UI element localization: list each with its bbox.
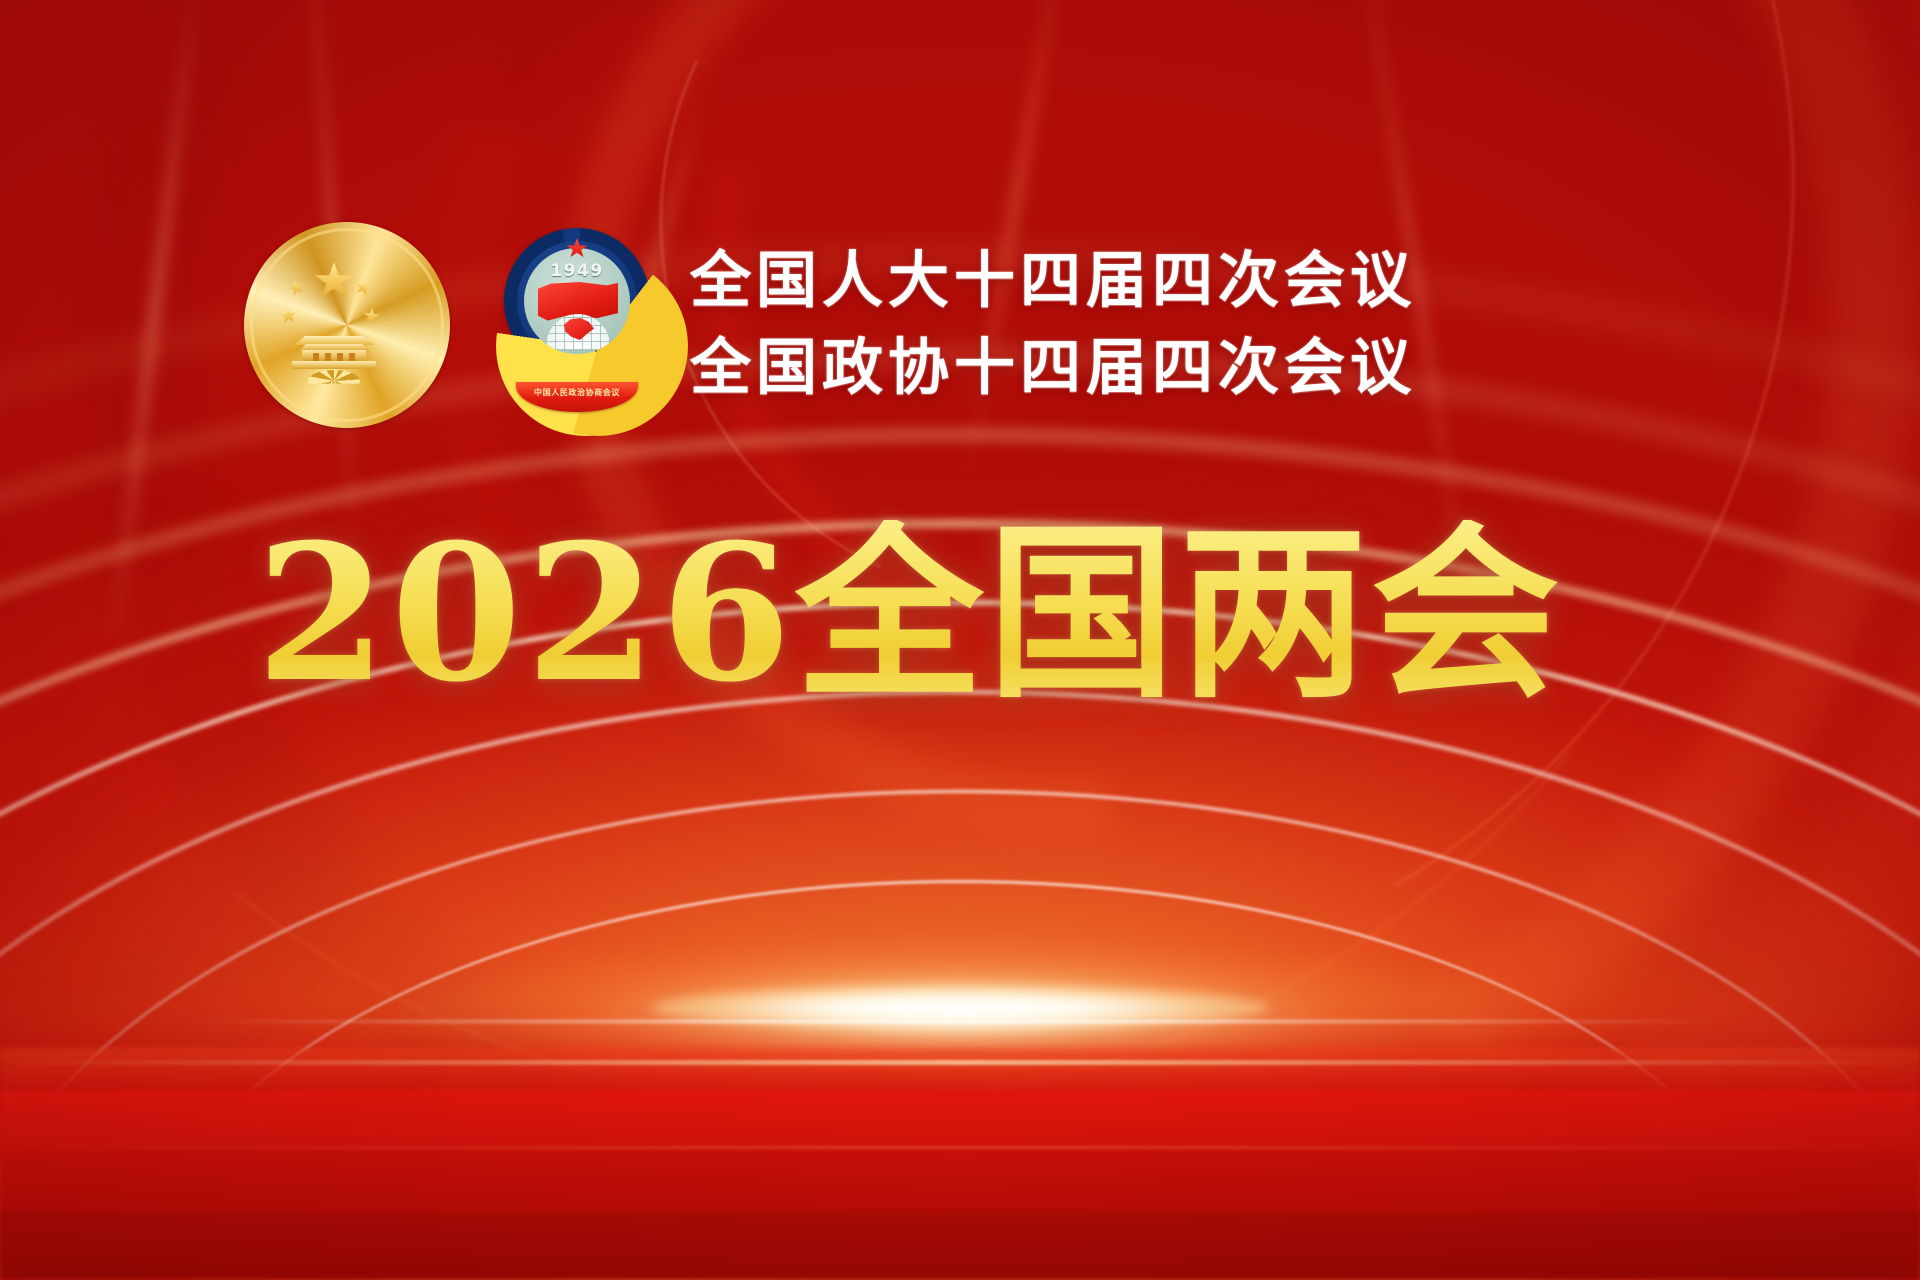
cppcc-emblem-inner-disc: 1949 [524, 248, 630, 354]
cppcc-emblem: 1949 中国人民政治协商会议 [482, 218, 672, 414]
poster-canvas: 1949 中国人民政治协商会议 全国人大十四届四次会议 全国政协十四届四次会议 … [0, 0, 1920, 1280]
headline-block: 全国人大十四届四次会议 全国政协十四届四次会议 [690, 238, 1416, 411]
cppcc-emblem-globe [546, 314, 610, 350]
gate-roof-upper [294, 336, 374, 345]
main-title: 2026全国两会 [256, 520, 1563, 708]
national-emblem [236, 218, 432, 414]
tiananmen-gate-icon [292, 336, 376, 370]
cppcc-emblem-ribbon-text: 中国人民政治协商会议 [516, 387, 638, 398]
emblem-row: 1949 中国人民政治协商会议 [236, 218, 672, 414]
headline-npc: 全国人大十四届四次会议 [690, 238, 1416, 325]
gate-door-2 [325, 353, 331, 361]
gate-door-3 [337, 353, 343, 361]
gate-door-1 [313, 353, 319, 361]
gate-base [292, 361, 376, 369]
national-emblem-wheat-wreath [244, 222, 450, 428]
gate-wall [302, 350, 366, 361]
headline-cppcc: 全国政协十四届四次会议 [690, 325, 1416, 412]
gate-door-4 [349, 353, 355, 361]
cppcc-emblem-year: 1949 [524, 261, 630, 281]
